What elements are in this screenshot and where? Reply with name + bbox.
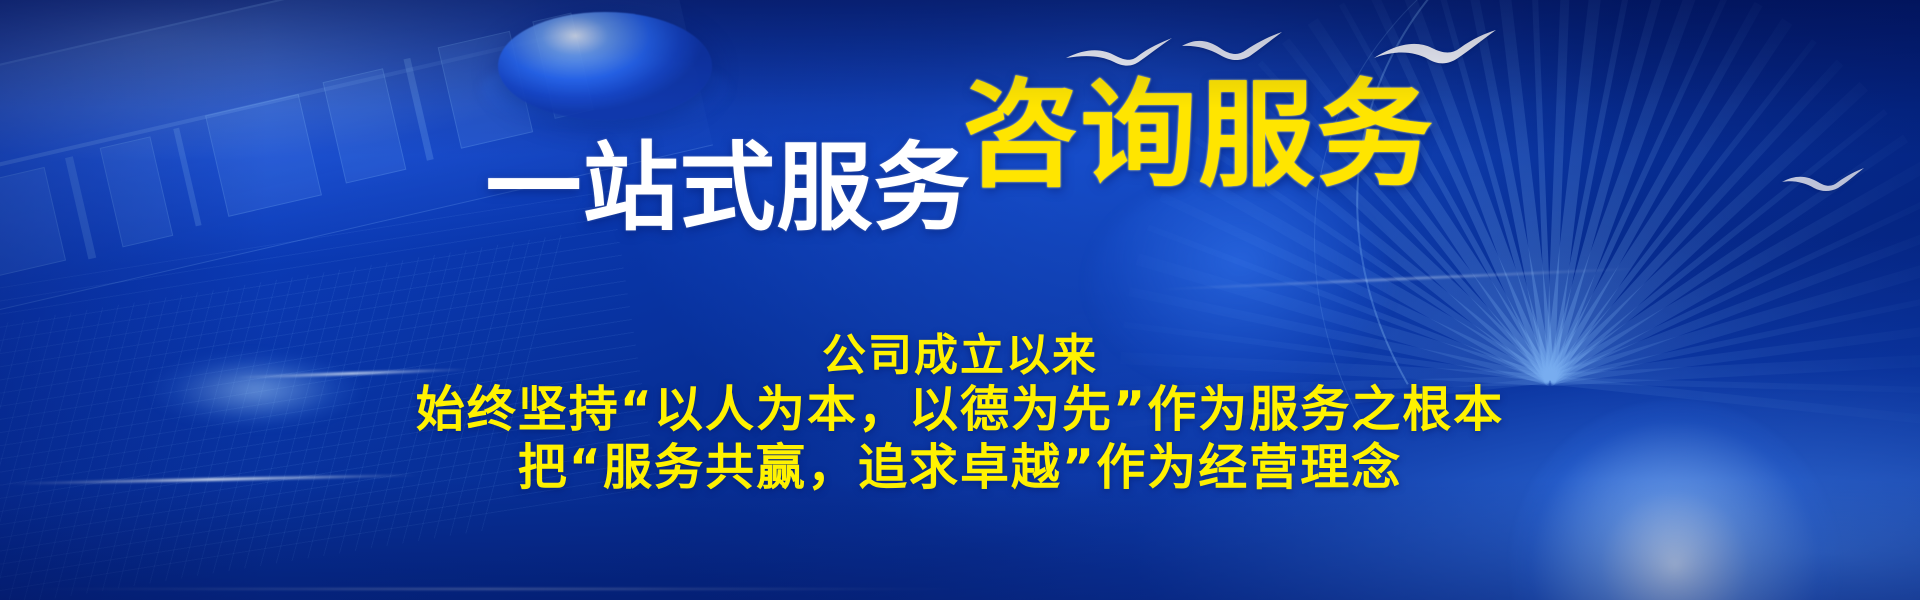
promo-banner: 一站式服务 咨询服务 公司成立以来 始终坚持“以人为本，以德为先”作为服务之根本… xyxy=(0,0,1920,600)
background-vignette xyxy=(0,0,1920,600)
